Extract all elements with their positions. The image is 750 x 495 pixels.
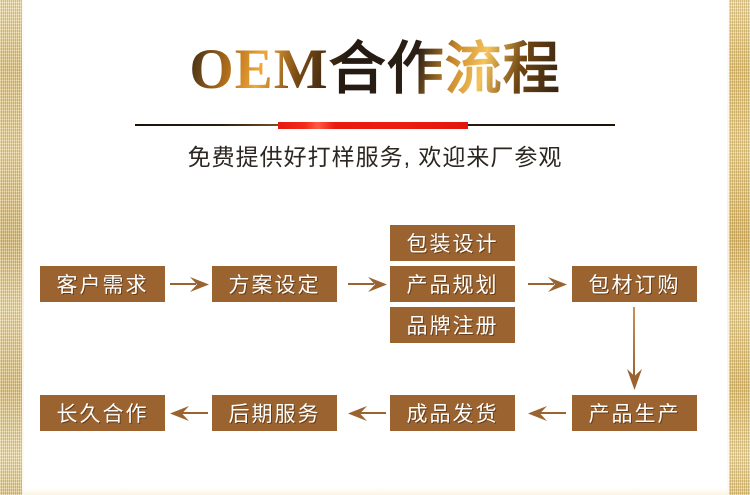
step-product-planning[interactable]: 产品规划 [390, 266, 515, 302]
divider-red-accent [278, 122, 468, 129]
step-long-term-cooperation[interactable]: 长久合作 [40, 395, 165, 431]
oem-process-banner: OEM合作流程 免费提供好打样服务, 欢迎来厂参观 客户需求 方案设定 包装设计… [0, 0, 750, 495]
step-packaging-design[interactable]: 包装设计 [390, 225, 515, 261]
arrow-left-3 [170, 404, 208, 422]
arrow-right-1 [170, 275, 208, 293]
page-title: OEM合作流程 [0, 36, 750, 104]
step-production[interactable]: 产品生产 [572, 395, 697, 431]
step-plan-setting[interactable]: 方案设定 [212, 266, 337, 302]
page-subtitle: 免费提供好打样服务, 欢迎来厂参观 [0, 140, 750, 174]
title-divider [135, 122, 615, 128]
step-customer-requirements[interactable]: 客户需求 [40, 266, 165, 302]
step-packaging-order[interactable]: 包材订购 [572, 266, 697, 302]
arrow-left-1 [528, 404, 566, 422]
arrow-down-1 [625, 307, 643, 391]
arrow-right-3 [528, 275, 566, 293]
arrow-right-2 [348, 275, 386, 293]
bottom-gradient-tint [22, 488, 729, 495]
arrow-left-2 [348, 404, 386, 422]
step-shipment[interactable]: 成品发货 [390, 395, 515, 431]
step-brand-registration[interactable]: 品牌注册 [390, 307, 515, 343]
step-after-sales-service[interactable]: 后期服务 [212, 395, 337, 431]
